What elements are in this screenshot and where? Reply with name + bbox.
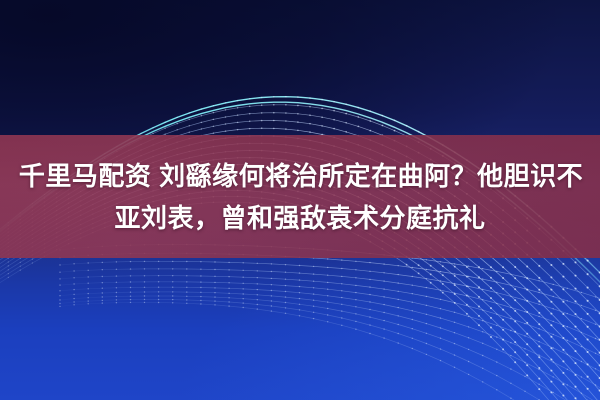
banner-image: 千里马配资 刘繇缘何将治所定在曲阿？他胆识不 亚刘表，曾和强敌袁术分庭抗礼: [0, 0, 600, 400]
page-title: 千里马配资 刘繇缘何将治所定在曲阿？他胆识不 亚刘表，曾和强敌袁术分庭抗礼: [0, 135, 600, 258]
page-title-line-2: 亚刘表，曾和强敌袁术分庭抗礼: [114, 198, 485, 238]
page-title-line-1: 千里马配资 刘繇缘何将治所定在曲阿？他胆识不: [17, 156, 583, 196]
